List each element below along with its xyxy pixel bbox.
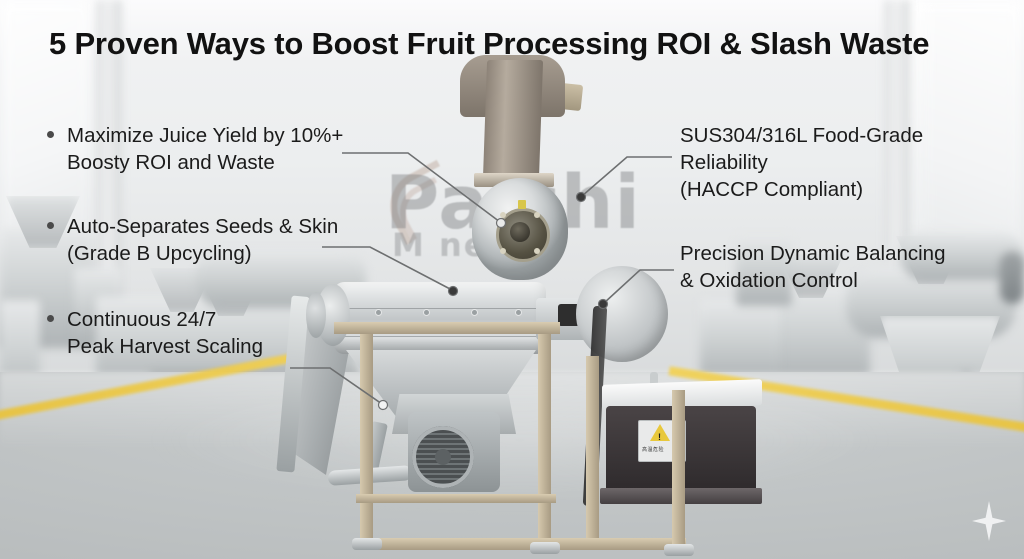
callout-1-text: Maximize Juice Yield by 10%+ Boosty ROI …: [67, 122, 343, 176]
feed-chute-vertical: [483, 60, 543, 180]
hub-bolt-1: [500, 212, 506, 218]
callout-1-line-2: Boosty ROI and Waste: [67, 149, 343, 176]
callout-5-line-2: & Oxidation Control: [680, 267, 945, 294]
callout-dynamic-balancing: Precision Dynamic Balancing & Oxidation …: [680, 240, 945, 294]
main-juicer-machine: ! 高温危险: [300, 60, 730, 550]
callout-3-line-1: Continuous 24/7: [67, 306, 263, 333]
warning-exclamation: !: [658, 432, 661, 442]
callout-auto-separates: Auto-Separates Seeds & Skin (Grade B Upc…: [47, 213, 338, 267]
barrel-inlet-cap: [306, 292, 326, 338]
bullet-icon-3: [47, 315, 54, 322]
callout-3-text: Continuous 24/7 Peak Harvest Scaling: [67, 306, 263, 360]
barrel-bolt-1: [376, 310, 381, 315]
callout-4-line-1: SUS304/316L Food-Grade: [680, 122, 923, 149]
barrel-bolt-2: [424, 310, 429, 315]
callout-5-line-1: Precision Dynamic Balancing: [680, 240, 945, 267]
callout-1-line-1: Maximize Juice Yield by 10%+: [67, 122, 343, 149]
frame-leg-far-right: [672, 390, 685, 544]
hub-bolt-2: [534, 212, 540, 218]
frame-foot-left: [352, 538, 382, 550]
callout-5-text: Precision Dynamic Balancing & Oxidation …: [680, 240, 945, 294]
frame-leg-front-right: [538, 322, 551, 542]
drive-motor-hub: [435, 449, 451, 465]
callout-2-text: Auto-Separates Seeds & Skin (Grade B Upc…: [67, 213, 338, 267]
hub-marker-icon: [518, 200, 526, 209]
callout-food-grade-reliability: SUS304/316L Food-Grade Reliability (HACC…: [680, 122, 923, 203]
frame-top-rail: [334, 322, 560, 334]
frame-foot-center: [530, 542, 560, 554]
frame-bottom-rail: [356, 538, 686, 550]
callout-continuous-operation: Continuous 24/7 Peak Harvest Scaling: [47, 306, 263, 360]
crusher-hub-core: [510, 222, 530, 242]
frame-leg-front-left: [360, 328, 373, 540]
callout-4-text: SUS304/316L Food-Grade Reliability (HACC…: [680, 122, 923, 203]
bg-end-r1: [1000, 252, 1024, 304]
barrel-bolt-3: [472, 310, 477, 315]
page-title: 5 Proven Ways to Boost Fruit Processing …: [49, 26, 929, 62]
callout-3-line-2: Peak Harvest Scaling: [67, 333, 263, 360]
bullet-icon-1: [47, 131, 54, 138]
bullet-icon-2: [47, 222, 54, 229]
hub-bolt-4: [534, 248, 540, 254]
barrel-seam-top: [334, 308, 546, 309]
callout-2-line-1: Auto-Separates Seeds & Skin: [67, 213, 338, 240]
balance-pulley: [576, 266, 668, 362]
hub-bolt-3: [500, 248, 506, 254]
callout-4-line-2: Reliability: [680, 149, 923, 176]
callout-2-line-2: (Grade B Upcycling): [67, 240, 338, 267]
callout-maximize-juice-yield: Maximize Juice Yield by 10%+ Boosty ROI …: [47, 122, 343, 176]
callout-4-line-3: (HACCP Compliant): [680, 176, 923, 203]
frame-foot-right: [664, 544, 694, 556]
warning-caption: 高温危险: [642, 446, 664, 453]
infographic-canvas: Pa chi M nery: [0, 0, 1024, 559]
barrel-bolt-4: [516, 310, 521, 315]
frame-leg-rear-right: [586, 356, 599, 542]
frame-mid-rail: [356, 494, 556, 503]
